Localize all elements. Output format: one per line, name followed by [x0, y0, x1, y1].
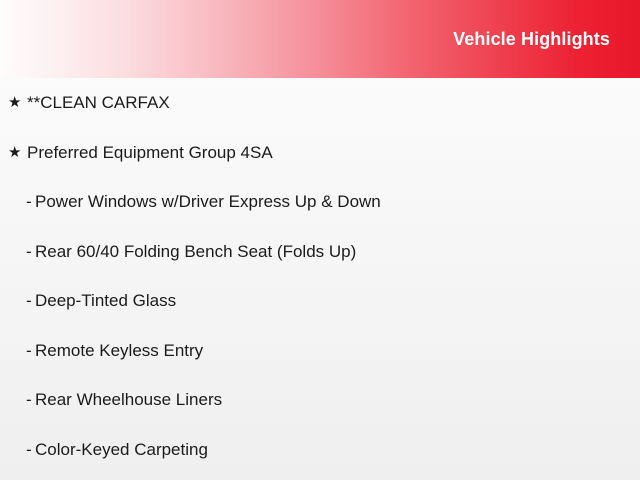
list-item: -Deep-Tinted Glass [0, 276, 640, 326]
list-item: -Rear 60/40 Folding Bench Seat (Folds Up… [0, 227, 640, 277]
dash-bullet-icon: - [26, 276, 32, 326]
list-item-label: Deep-Tinted Glass [35, 276, 176, 326]
page-title: Vehicle Highlights [453, 29, 610, 49]
list-item-label: Color-Keyed Carpeting [35, 425, 208, 475]
dash-bullet-icon: - [26, 227, 32, 277]
dash-bullet-icon: - [26, 425, 32, 475]
list-item-label: Power Windows w/Driver Express Up & Down [35, 177, 381, 227]
list-item: ★Preferred Equipment Group 4SA [0, 128, 640, 178]
list-item: -Color-Keyed Carpeting [0, 425, 640, 475]
header-banner: Vehicle Highlights [0, 0, 640, 78]
list-item: -Remote Keyless Entry [0, 326, 640, 376]
dash-bullet-icon: - [26, 326, 32, 376]
dash-bullet-icon: - [26, 375, 32, 425]
star-bullet-icon: ★ [8, 128, 21, 178]
list-item-label: Rear 60/40 Folding Bench Seat (Folds Up) [35, 227, 356, 277]
list-item: ★**CLEAN CARFAX [0, 78, 640, 128]
vehicle-highlights-page: Vehicle Highlights ★**CLEAN CARFAX★Prefe… [0, 0, 640, 480]
highlights-list: ★**CLEAN CARFAX★Preferred Equipment Grou… [0, 78, 640, 474]
list-item-label: Rear Wheelhouse Liners [35, 375, 222, 425]
list-item-label: Preferred Equipment Group 4SA [27, 128, 273, 178]
dash-bullet-icon: - [26, 177, 32, 227]
list-item-label: Remote Keyless Entry [35, 326, 203, 376]
list-item: -Rear Wheelhouse Liners [0, 375, 640, 425]
star-bullet-icon: ★ [8, 78, 21, 128]
list-item: -Power Windows w/Driver Express Up & Dow… [0, 177, 640, 227]
list-item-label: **CLEAN CARFAX [27, 78, 170, 128]
